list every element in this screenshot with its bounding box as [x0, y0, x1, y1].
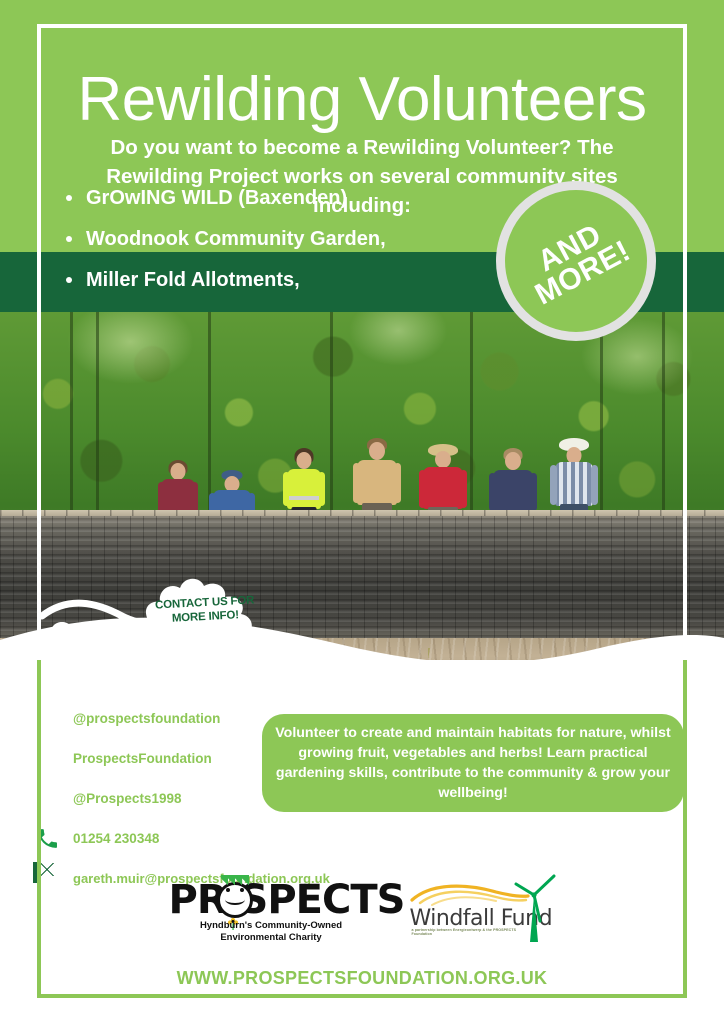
prospects-face-eye [240, 888, 244, 892]
leaf-line-1: CONTACT US FOR [155, 594, 255, 611]
list-item: Woodnook Community Garden, [60, 229, 560, 249]
windfall-fund-logo: Windfall Fund a partnership between Ener… [406, 874, 556, 944]
logo-row: PR SPECTS Hyndburn's Community-Owned Env… [0, 872, 724, 946]
prospects-tagline-line1: Hyndburn's Community-Owned [200, 920, 342, 931]
instagram-icon[interactable] [33, 704, 62, 733]
prospects-face-smile [225, 894, 245, 905]
website-url[interactable]: WWW.PROSPECTSFOUNDATION.ORG.UK [0, 968, 724, 989]
instagram-handle: @prospectsfoundation [73, 711, 220, 726]
contact-row-phone[interactable]: 01254 230348 [33, 824, 293, 853]
phone-number: 01254 230348 [73, 831, 159, 846]
page-title: Rewilding Volunteers [0, 68, 724, 131]
prospects-logo: PR SPECTS Hyndburn's Community-Owned Env… [169, 874, 374, 944]
prospects-wordmark: PR SPECTS [169, 880, 374, 920]
prospects-tagline: Hyndburn's Community-Owned Environmental… [169, 920, 374, 944]
leaf-line-2: MORE INFO! [172, 609, 240, 624]
poster-root: Rewilding Volunteers Do you want to beco… [0, 0, 724, 1024]
twitter-icon[interactable] [33, 784, 62, 813]
list-item: GrOwING WILD (Baxenden) [60, 188, 560, 208]
contact-list: @prospectsfoundation f ProspectsFoundati… [33, 704, 293, 893]
contact-leaf-callout: CONTACT US FOR MORE INFO! [38, 572, 273, 668]
tree-trunk [70, 312, 73, 542]
twitter-handle: @Prospects1998 [73, 791, 181, 806]
facebook-handle: ProspectsFoundation [73, 751, 212, 766]
tree-trunk [96, 312, 99, 522]
prospects-tagline-line2: Environmental Charity [220, 932, 321, 943]
wind-turbine-icon [510, 874, 556, 942]
tree-trunk [330, 312, 333, 512]
facebook-icon[interactable]: f [33, 744, 62, 773]
contact-row-facebook[interactable]: f ProspectsFoundation [33, 744, 293, 773]
volunteer-blurb-box: Volunteer to create and maintain habitat… [262, 714, 684, 812]
contact-row-instagram[interactable]: @prospectsfoundation [33, 704, 293, 733]
community-sites-list: GrOwING WILD (Baxenden) Woodnook Communi… [60, 188, 560, 311]
prospects-face-eye [226, 888, 230, 892]
list-item: Miller Fold Allotments, [60, 270, 560, 290]
and-more-badge: AND MORE! [496, 181, 656, 341]
volunteer-blurb-text: Volunteer to create and maintain habitat… [262, 723, 684, 804]
phone-icon[interactable] [33, 825, 62, 852]
contact-row-twitter[interactable]: @Prospects1998 [33, 784, 293, 813]
prospects-leaf-crown-icon [221, 875, 249, 885]
and-more-badge-text: AND MORE! [518, 213, 634, 310]
